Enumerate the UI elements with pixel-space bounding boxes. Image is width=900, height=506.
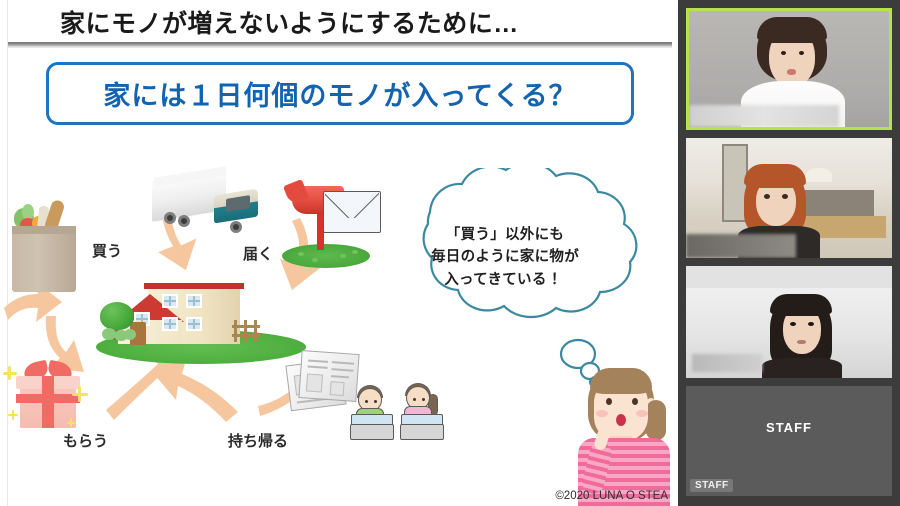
participant-fringe xyxy=(744,164,806,188)
question-callout-text: 家には１日何個のモノが入ってくる？ xyxy=(103,74,576,113)
gift-box-icon xyxy=(8,360,86,430)
room-counter xyxy=(798,190,874,216)
participant-name-tag: STAFF xyxy=(690,479,733,492)
thought-line-3: 入ってきている ！ xyxy=(378,269,632,291)
thinking-woman-illustration xyxy=(562,350,678,506)
room-lamp xyxy=(806,168,832,182)
video-tile-2[interactable] xyxy=(686,138,892,258)
title-divider xyxy=(8,42,672,48)
meeting-screen-share-window: 家にモノが増えないようにするために… 家には１日何個のモノが入ってくる？ xyxy=(0,0,900,506)
blurred-laptop xyxy=(689,105,839,127)
label-deliver: 届く xyxy=(243,243,273,264)
staff-center-label: STAFF xyxy=(686,420,892,435)
copyright-notice: ©2020 LUNA O STEA xyxy=(555,490,668,502)
page-title: 家にモノが増えないようにするために… xyxy=(60,4,519,40)
label-bring-home: 持ち帰る xyxy=(228,430,288,451)
video-tile-1[interactable] xyxy=(686,8,892,130)
participant-fringe xyxy=(770,294,832,316)
participant-fringe xyxy=(757,17,827,43)
video-tile-3[interactable] xyxy=(686,266,892,378)
fence-icon xyxy=(232,320,260,342)
thought-bubble-text: 「買う」以外にも 毎日のように家に物が 入ってきている ！ xyxy=(378,224,632,291)
room-ceiling xyxy=(686,266,892,288)
shared-slide[interactable]: 家にモノが増えないようにするために… 家には１日何個のモノが入ってくる？ xyxy=(0,0,678,506)
participant-eye-left xyxy=(764,194,770,199)
slide-canvas: 家にモノが増えないようにするために… 家には１日何個のモノが入ってくる？ xyxy=(0,0,678,506)
label-receive: もらう xyxy=(63,430,108,451)
participant-mouth xyxy=(787,69,796,75)
participant-torso xyxy=(762,358,842,378)
participants-video-strip: STAFF STAFF xyxy=(678,0,900,506)
blurred-laptop xyxy=(692,354,762,372)
participant-eye-left xyxy=(790,322,796,326)
house-illustration xyxy=(96,272,306,372)
participant-eye-left xyxy=(781,51,786,55)
participant-mouth xyxy=(797,340,806,344)
delivery-truck-icon xyxy=(152,172,274,240)
thought-line-2: 毎日のように家に物が xyxy=(378,246,632,268)
video-tile-4-staff[interactable]: STAFF STAFF xyxy=(686,386,892,496)
grocery-bag-icon xyxy=(8,200,82,292)
participant-eye-right xyxy=(808,322,814,326)
blurred-laptop xyxy=(686,234,796,258)
envelope-icon xyxy=(323,191,381,233)
thought-line-1: 「買う」以外にも xyxy=(378,224,632,246)
participant-eye-right xyxy=(782,194,788,199)
question-callout-box: 家には１日何個のモノが入ってくる？ xyxy=(46,62,634,125)
participant-eye-right xyxy=(799,51,804,55)
label-buy: 買う xyxy=(92,240,122,261)
